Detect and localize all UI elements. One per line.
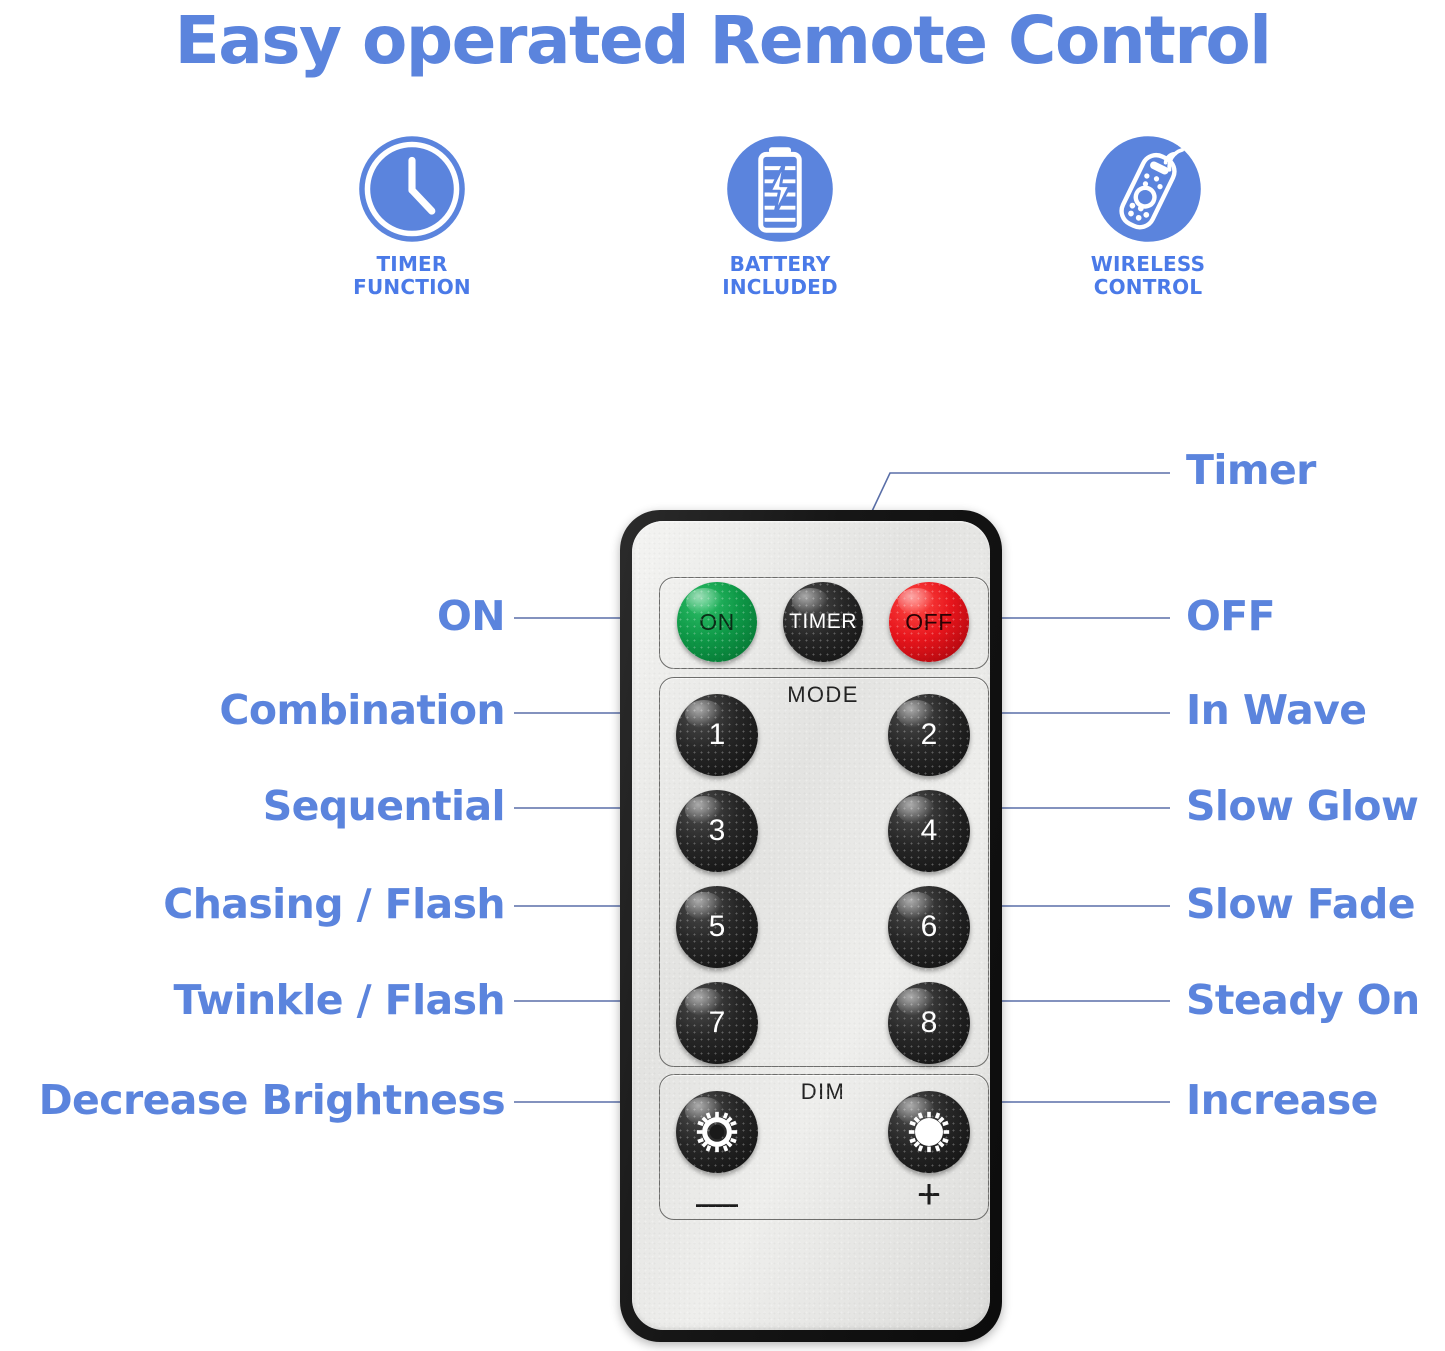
- mode-button-label: 1: [709, 718, 726, 752]
- mode-button-5[interactable]: 5: [676, 886, 758, 968]
- mode-button-3[interactable]: 3: [676, 790, 758, 872]
- mode-button-label: 3: [709, 814, 726, 848]
- mode-panel-title: MODE: [763, 682, 883, 708]
- mode-button-label: 4: [921, 814, 938, 848]
- caption-line-2: CONTROL: [1094, 275, 1203, 299]
- callout-increase: Increase: [1186, 1080, 1378, 1121]
- feature-timer-function: TIMER FUNCTION: [282, 134, 542, 299]
- dim-increase-button[interactable]: [888, 1091, 970, 1173]
- feature-wireless-control: WIRELESS CONTROL: [1018, 134, 1278, 299]
- caption-line-1: TIMER: [376, 252, 447, 276]
- callout-twinkle-flash: Twinkle / Flash: [105, 980, 505, 1021]
- dim-minus-sign: —: [676, 1181, 758, 1223]
- caption-line-1: WIRELESS: [1091, 252, 1205, 276]
- caption-line-2: INCLUDED: [722, 275, 838, 299]
- dim-panel-title: DIM: [763, 1079, 883, 1105]
- timer-button-label: TIMER: [789, 610, 857, 634]
- callout-slow-fade: Slow Fade: [1186, 884, 1415, 925]
- mode-button-2[interactable]: 2: [888, 694, 970, 776]
- mode-button-4[interactable]: 4: [888, 790, 970, 872]
- mode-button-1[interactable]: 1: [676, 694, 758, 776]
- feature-caption: TIMER FUNCTION: [282, 253, 542, 299]
- battery-icon: [725, 134, 835, 244]
- caption-line-2: FUNCTION: [353, 275, 471, 299]
- callout-off: OFF: [1186, 596, 1275, 637]
- mode-button-8[interactable]: 8: [888, 982, 970, 1064]
- off-button-label: OFF: [905, 609, 953, 636]
- remote-control-device: ON TIMER OFF MODE 1 2 3 4 5 6: [620, 510, 1002, 1342]
- on-button-label: ON: [699, 609, 735, 636]
- brightness-high-icon: [901, 1104, 957, 1160]
- callout-sequential: Sequential: [105, 786, 505, 827]
- mode-button-7[interactable]: 7: [676, 982, 758, 1064]
- on-button[interactable]: ON: [677, 582, 757, 662]
- infographic-canvas: Easy operated Remote Control TIMER FUNCT…: [0, 0, 1445, 1351]
- caption-line-1: BATTERY: [730, 252, 831, 276]
- feature-battery-included: BATTERY INCLUDED: [650, 134, 910, 299]
- callout-in-wave: In Wave: [1186, 690, 1366, 731]
- feature-caption: BATTERY INCLUDED: [650, 253, 910, 299]
- page-title: Easy operated Remote Control: [0, 2, 1445, 79]
- clock-icon: [357, 134, 467, 244]
- off-button[interactable]: OFF: [889, 582, 969, 662]
- mode-button-label: 5: [709, 910, 726, 944]
- dim-plus-sign: +: [888, 1173, 970, 1215]
- mode-button-label: 2: [921, 718, 938, 752]
- remote-faceplate: ON TIMER OFF MODE 1 2 3 4 5 6: [632, 521, 990, 1330]
- brightness-low-icon: [689, 1104, 745, 1160]
- mode-button-label: 6: [921, 910, 938, 944]
- callout-decrease-brightness: Decrease Brightness: [5, 1080, 505, 1121]
- remote-signal-icon: [1093, 134, 1203, 244]
- dim-decrease-button[interactable]: [676, 1091, 758, 1173]
- callout-on: ON: [105, 596, 505, 637]
- callout-steady-on: Steady On: [1186, 980, 1420, 1021]
- timer-button[interactable]: TIMER: [783, 582, 863, 662]
- callout-timer: Timer: [1186, 450, 1316, 491]
- mode-button-label: 8: [921, 1006, 938, 1040]
- feature-caption: WIRELESS CONTROL: [1018, 253, 1278, 299]
- callout-combination: Combination: [105, 690, 505, 731]
- mode-button-label: 7: [709, 1006, 726, 1040]
- callout-slow-glow: Slow Glow: [1186, 786, 1418, 827]
- mode-button-6[interactable]: 6: [888, 886, 970, 968]
- callout-chasing-flash: Chasing / Flash: [105, 884, 505, 925]
